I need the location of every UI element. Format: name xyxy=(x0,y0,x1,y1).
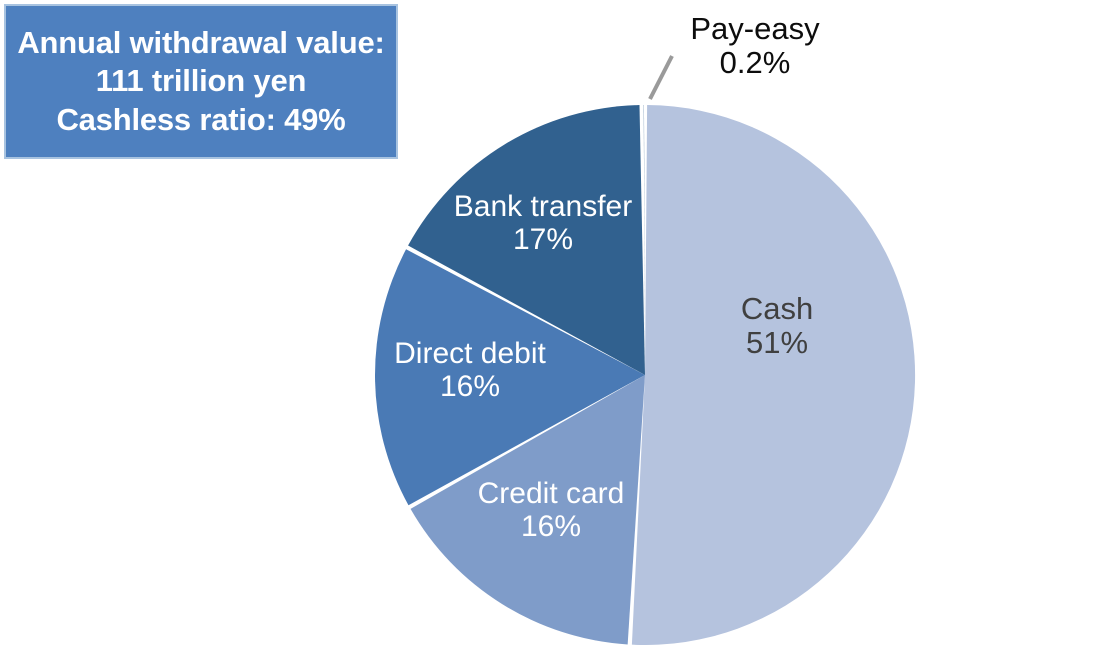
pie-chart: Cash 51% Credit card 16% Direct debit 16… xyxy=(0,0,1120,668)
chart-page: Annual withdrawal value: 111 trillion ye… xyxy=(0,0,1120,668)
payeasy-leader-line xyxy=(650,56,672,99)
pie-chart-svg xyxy=(0,0,1120,668)
pie-slice-group xyxy=(375,105,915,645)
pie-slice-cash xyxy=(632,105,915,645)
